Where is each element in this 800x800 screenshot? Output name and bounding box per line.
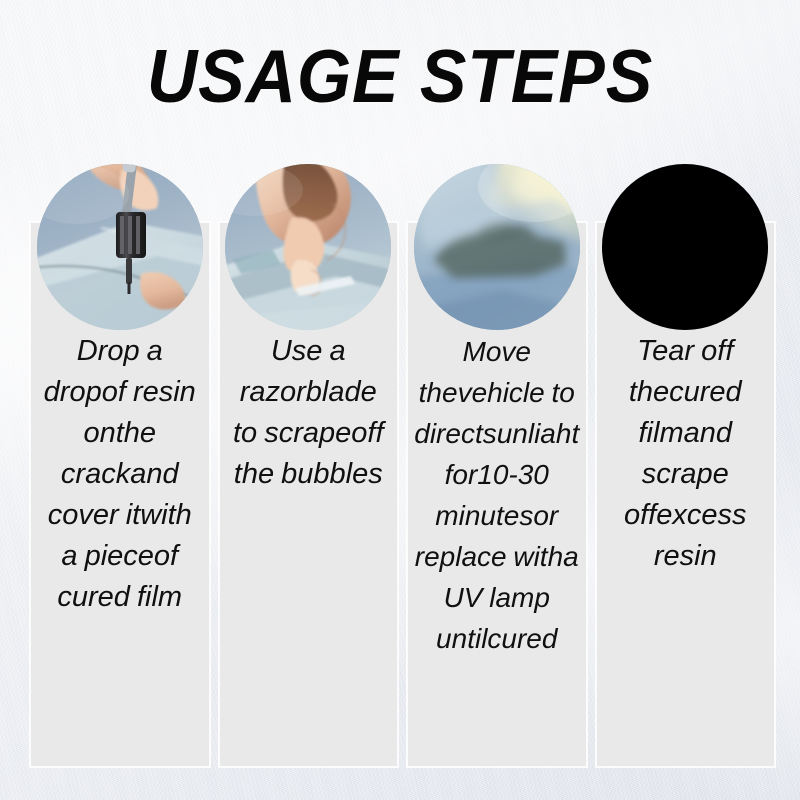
step-caption-2: Use a razorblade to scrapeoff the bubble…: [220, 331, 398, 495]
vehicle-in-sunlight-photo: [414, 164, 580, 330]
step-card-3: Move thevehicle to directsunliaht for10-…: [407, 222, 587, 767]
steps-row: Drop a dropof resin onthe crackand cover…: [30, 222, 775, 767]
step-card-2: Use a razorblade to scrapeoff the bubble…: [219, 222, 399, 767]
razor-blade-scraping-photo: [225, 164, 391, 330]
resin-applicator-on-crack-photo: [37, 164, 203, 330]
step-card-4: Tear off thecured filmand scrape offexce…: [596, 222, 776, 767]
peel-cured-film-photo: [602, 164, 768, 330]
step-caption-4: Tear off thecured filmand scrape offexce…: [597, 331, 775, 577]
step-card-1: Drop a dropof resin onthe crackand cover…: [30, 222, 210, 767]
step-caption-1: Drop a dropof resin onthe crackand cover…: [31, 331, 209, 618]
page-title: USAGE STEPS: [28, 36, 772, 116]
usage-steps-infographic: USAGE STEPS: [0, 0, 800, 800]
step-caption-3: Move thevehicle to directsunliaht for10-…: [408, 331, 586, 659]
